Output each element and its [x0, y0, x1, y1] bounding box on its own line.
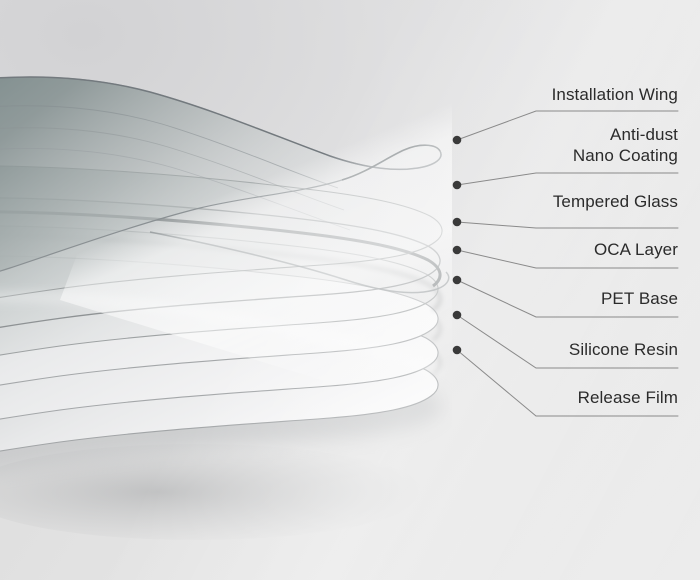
- layer-diagram-stage: Installation WingAnti-dust Nano CoatingT…: [0, 0, 700, 580]
- callout-label-anti-dust-nano-coating[interactable]: Anti-dust Nano Coating: [573, 124, 678, 166]
- callout-label-installation-wing[interactable]: Installation Wing: [552, 84, 678, 105]
- callout-label-oca-layer[interactable]: OCA Layer: [594, 239, 678, 260]
- callout-labels: Installation WingAnti-dust Nano CoatingT…: [0, 0, 700, 580]
- callout-label-release-film[interactable]: Release Film: [578, 387, 678, 408]
- callout-label-silicone-resin[interactable]: Silicone Resin: [569, 339, 678, 360]
- callout-label-pet-base[interactable]: PET Base: [601, 288, 678, 309]
- callout-label-tempered-glass[interactable]: Tempered Glass: [553, 191, 678, 212]
